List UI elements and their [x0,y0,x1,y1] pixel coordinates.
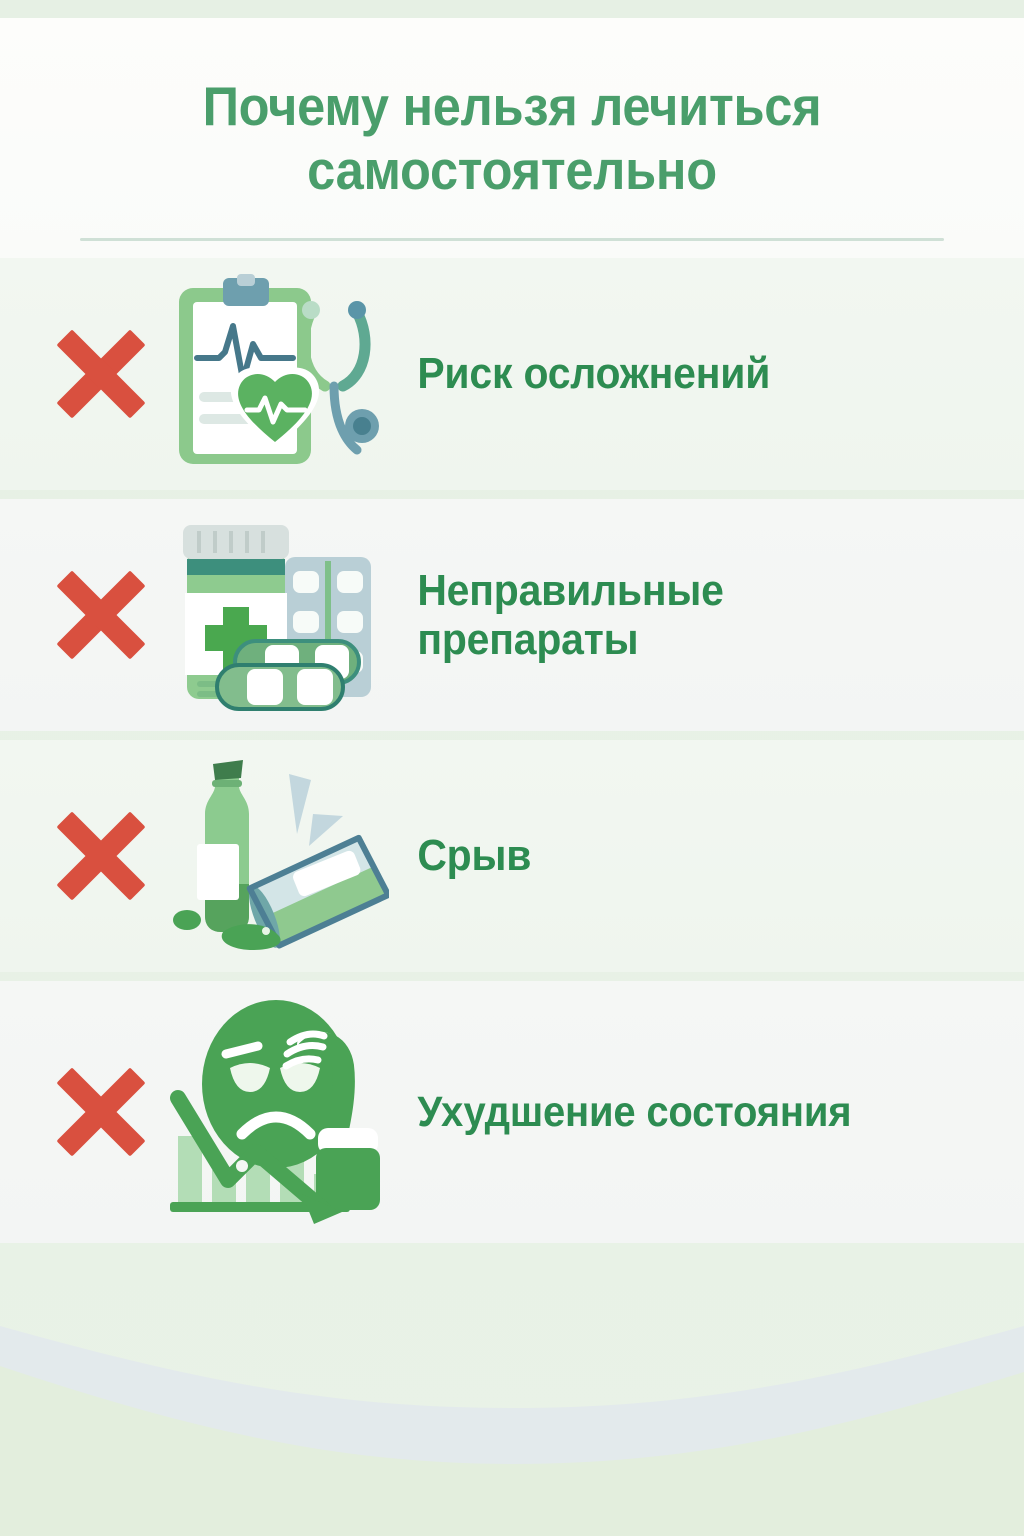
list-item-label: Риск осложнений [395,349,980,398]
red-x-icon [55,1066,147,1158]
list-item[interactable]: Неправильные препараты [0,499,1024,731]
page-title: Почему нельзя лечиться самостоятельно [41,18,983,203]
list-item[interactable]: Риск осложнений [0,258,1024,490]
bottle-spilled-glass-icon [155,740,395,972]
list-item-label: Ухудшение состояния [395,1088,980,1136]
list-item-label: Срыв [395,831,980,880]
red-x-icon [55,569,147,661]
reasons-list: Риск осложнений [0,258,1024,1252]
poster-header: Почему нельзя лечиться самостоятельно [0,18,1024,258]
sad-face-declining-chart-icon [155,981,395,1243]
infographic-poster: Почему нельзя лечиться самостоятельно [0,0,1024,1536]
title-divider [80,238,944,241]
list-item-label: Неправильные препараты [395,566,980,665]
pill-bottle-blister-capsules-icon [155,499,395,731]
list-item[interactable]: Срыв [0,740,1024,972]
red-x-icon [55,810,147,902]
clipboard-stethoscope-heart-icon [155,258,395,490]
list-item[interactable]: Ухудшение состояния [0,981,1024,1243]
red-x-icon [55,328,147,420]
